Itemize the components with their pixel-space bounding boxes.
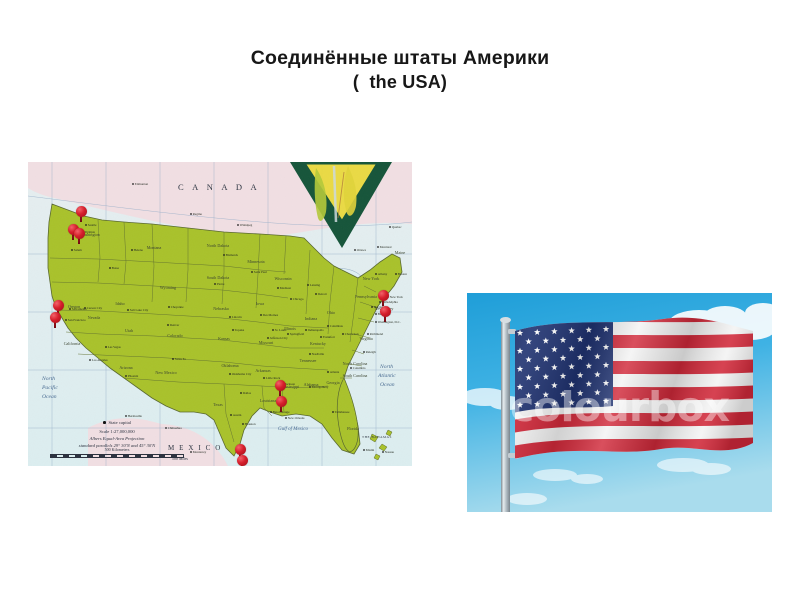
scale-bar-graphic [50, 454, 184, 458]
scale-km-label: 500 Kilometers [42, 447, 192, 453]
legend-capital-label: State capital [109, 419, 132, 426]
usa-flag-image: colourbox [467, 293, 772, 512]
slide-title: Соединённые штаты Америки ( the USA) [0, 46, 800, 94]
legend-scale: Scale 1:27,000,000 [42, 428, 192, 435]
usa-map-image: C A N A D A M E X I C O THE BAHAMAS Nort… [28, 162, 412, 466]
state-capital-dot-icon [103, 421, 106, 424]
legend-projection-1: Albers Equal-Area Projection [42, 435, 192, 442]
flag-pole [501, 319, 510, 512]
map-scale-bar: 500 Kilometers 500 Miles [42, 451, 192, 460]
flag-graphic [467, 293, 772, 512]
title-line-english: ( the USA) [0, 71, 800, 94]
title-line-russian: Соединённые штаты Америки [0, 46, 800, 71]
map-legend: State capital Scale 1:27,000,000 Albers … [42, 419, 192, 460]
scale-mi-label: 500 Miles [172, 456, 188, 462]
